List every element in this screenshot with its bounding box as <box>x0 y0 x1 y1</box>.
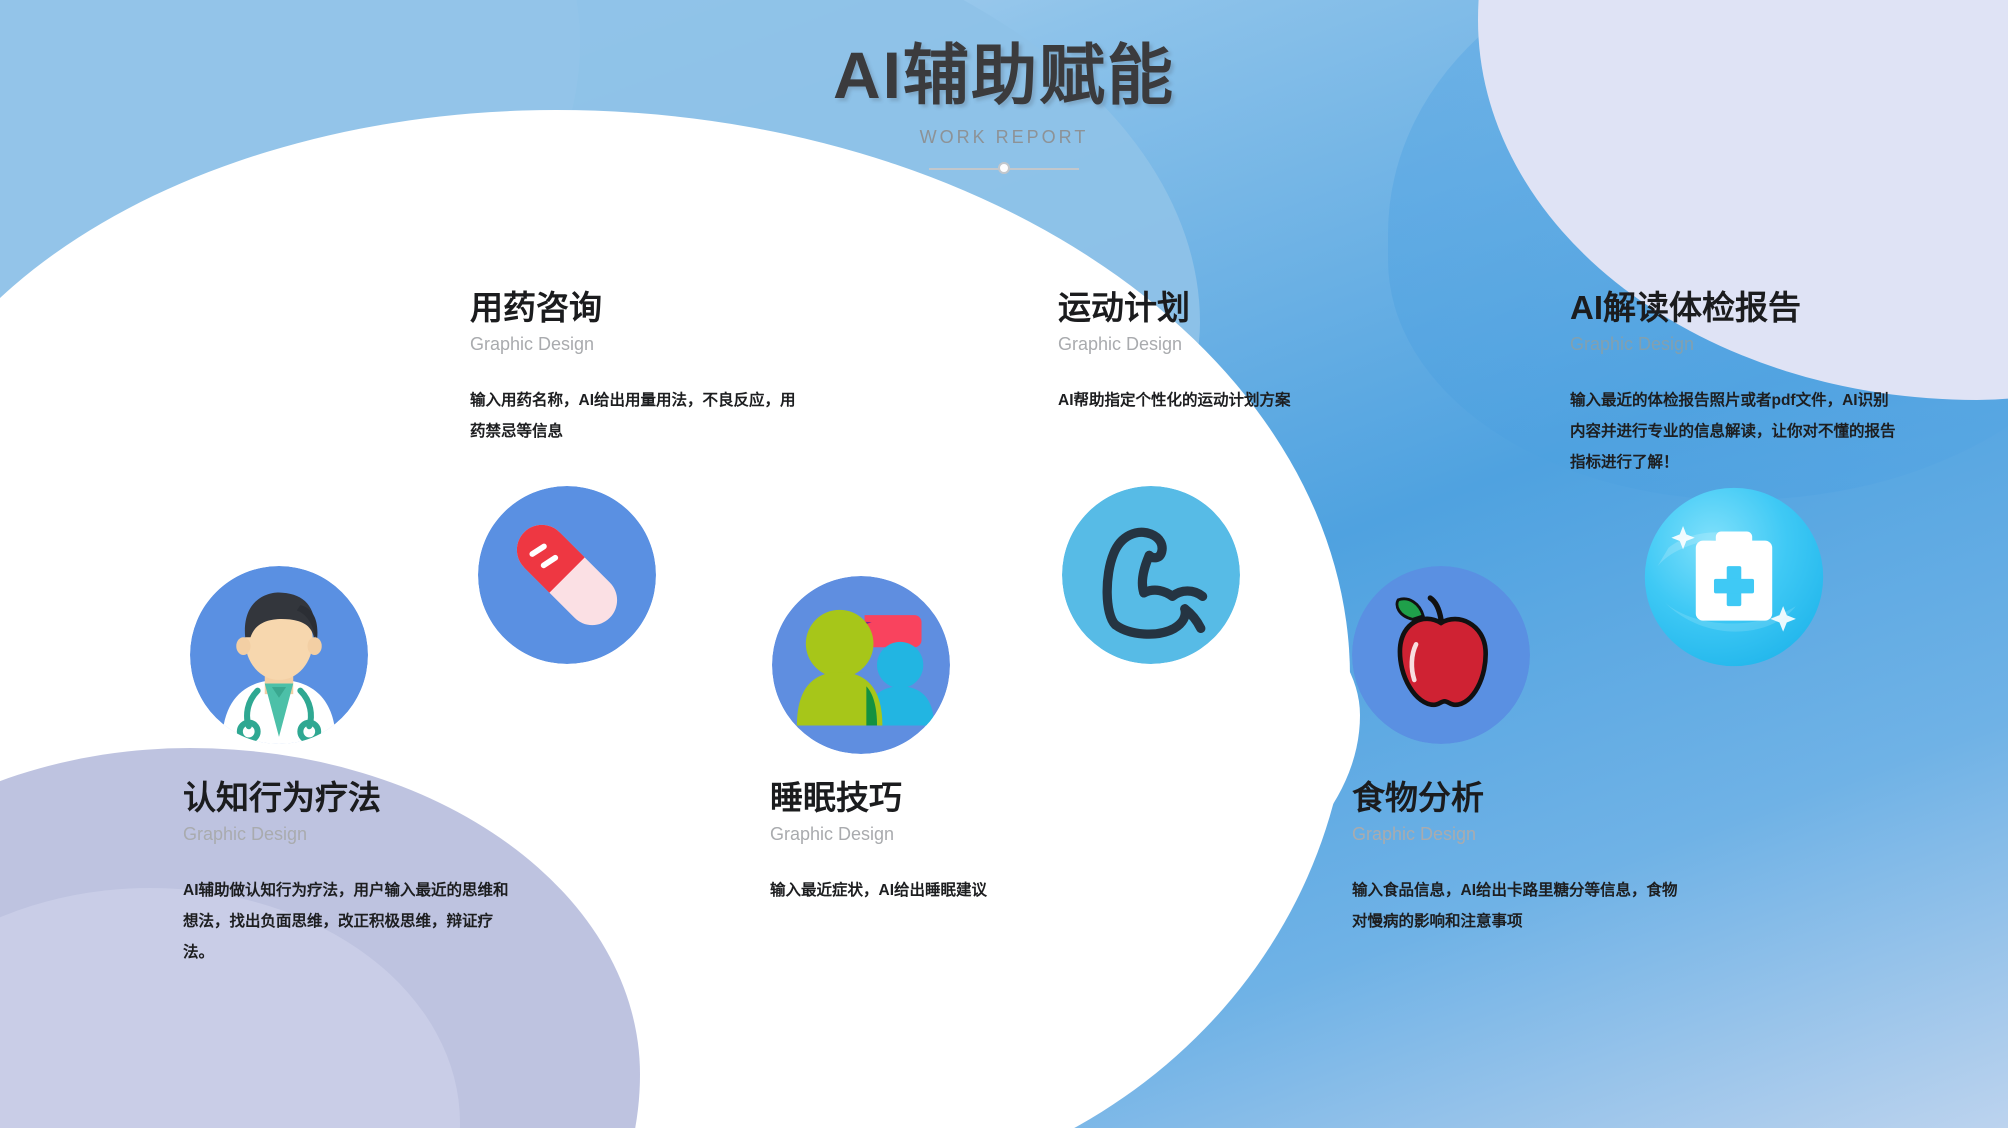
card-medication-consult: 用药咨询 Graphic Design 输入用药名称，AI给出用量用法，不良反应… <box>470 288 810 447</box>
card-cognitive-behavioral-therapy: 认知行为疗法 Graphic Design AI辅助做认知行为疗法，用户输入最近… <box>183 778 513 968</box>
muscle-icon[interactable] <box>1062 486 1240 664</box>
title-divider <box>929 162 1079 176</box>
card-ai-health-report: AI解读体检报告 Graphic Design 输入最近的体检报告照片或者pdf… <box>1570 288 1900 478</box>
counseling-icon[interactable] <box>772 576 950 754</box>
card-title: 运动计划 <box>1058 288 1388 328</box>
card-title: AI解读体检报告 <box>1570 288 1900 328</box>
page-title: AI辅助赋能 <box>0 40 2008 111</box>
doctor-icon[interactable] <box>190 566 368 744</box>
card-title: 食物分析 <box>1352 778 1692 818</box>
slide-header: AI辅助赋能 WORK REPORT <box>0 40 2008 176</box>
page-subtitle: WORK REPORT <box>0 127 2008 148</box>
card-food-analysis: 食物分析 Graphic Design 输入食品信息，AI给出卡路里糖分等信息，… <box>1352 778 1692 937</box>
pill-icon[interactable] <box>478 486 656 664</box>
card-description: 输入食品信息，AI给出卡路里糖分等信息，食物对慢病的影响和注意事项 <box>1352 875 1692 937</box>
card-subtitle: Graphic Design <box>770 824 1100 845</box>
card-title: 睡眠技巧 <box>770 778 1100 818</box>
card-exercise-plan: 运动计划 Graphic Design AI帮助指定个性化的运动计划方案 <box>1058 288 1388 416</box>
card-description: AI帮助指定个性化的运动计划方案 <box>1058 385 1388 416</box>
card-subtitle: Graphic Design <box>1058 334 1388 355</box>
card-description: AI辅助做认知行为疗法，用户输入最近的思维和想法，找出负面思维，改正积极思维，辩… <box>183 875 513 968</box>
card-description: 输入用药名称，AI给出用量用法，不良反应，用药禁忌等信息 <box>470 385 810 447</box>
card-subtitle: Graphic Design <box>183 824 513 845</box>
card-subtitle: Graphic Design <box>470 334 810 355</box>
divider-knob-icon <box>998 162 1010 174</box>
apple-icon[interactable] <box>1352 566 1530 744</box>
slide-canvas: AI辅助赋能 WORK REPORT <box>0 0 2008 1128</box>
medical-clipboard-icon[interactable] <box>1643 486 1825 668</box>
card-subtitle: Graphic Design <box>1352 824 1692 845</box>
card-description: 输入最近症状，AI给出睡眠建议 <box>770 875 1100 906</box>
card-subtitle: Graphic Design <box>1570 334 1900 355</box>
card-sleep-tips: 睡眠技巧 Graphic Design 输入最近症状，AI给出睡眠建议 <box>770 778 1100 906</box>
card-description: 输入最近的体检报告照片或者pdf文件，AI识别内容并进行专业的信息解读，让你对不… <box>1570 385 1900 478</box>
card-title: 认知行为疗法 <box>183 778 513 818</box>
card-title: 用药咨询 <box>470 288 810 328</box>
